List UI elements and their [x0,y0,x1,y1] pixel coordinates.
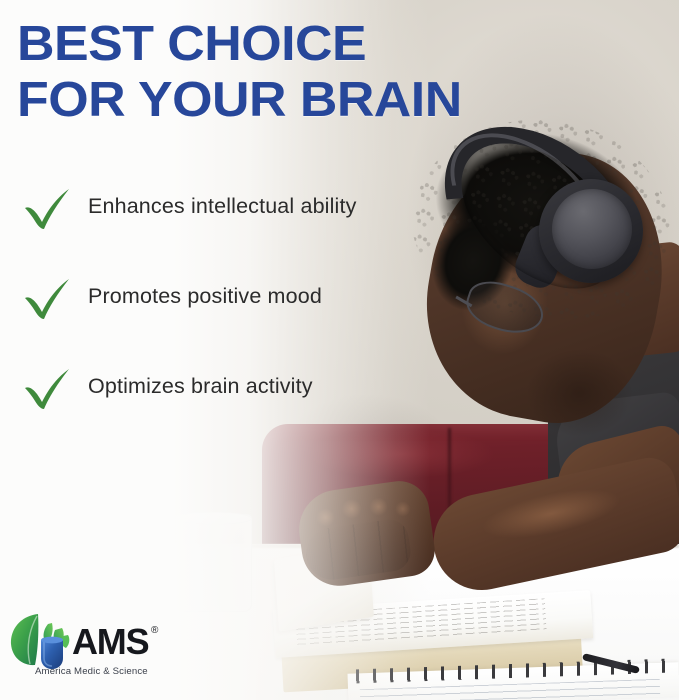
benefits-list: Enhances intellectual ability Promotes p… [16,180,436,450]
registered-trademark-icon: ® [151,625,158,636]
page-title: BEST CHOICE FOR YOUR BRAIN [17,16,515,128]
brand-logo: AMS ® America Medic & Science [8,608,184,692]
green-checkmark-icon [22,364,74,412]
benefit-label: Promotes positive mood [88,284,322,309]
list-item: Optimizes brain activity [16,360,436,450]
benefit-label: Enhances intellectual ability [88,194,356,219]
list-item: Promotes positive mood [16,270,436,360]
green-checkmark-icon [22,274,74,322]
list-item: Enhances intellectual ability [16,180,436,270]
banner-content: BEST CHOICE FOR YOUR BRAIN Enhances inte… [0,0,679,700]
logo-wordmark: AMS [72,624,148,660]
logo-tagline: America Medic & Science [35,666,148,677]
green-checkmark-icon [22,184,74,232]
product-marketing-banner: BEST CHOICE FOR YOUR BRAIN Enhances inte… [0,0,679,700]
headline-line-1: BEST CHOICE [17,16,515,72]
benefit-label: Optimizes brain activity [88,374,313,399]
headline-line-2: FOR YOUR BRAIN [17,72,515,128]
leaf-mortar-icon [8,610,82,672]
